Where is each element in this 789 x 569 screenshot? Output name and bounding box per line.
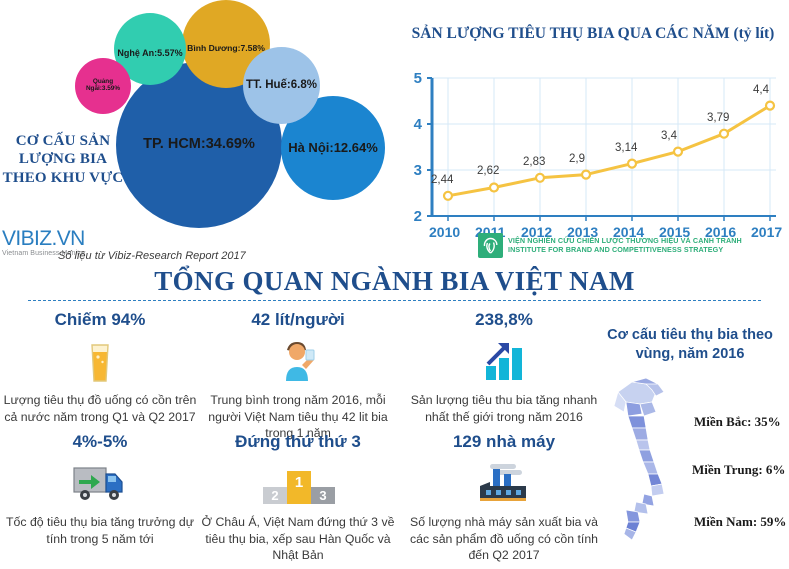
data-point-label: 4,4 bbox=[753, 84, 769, 96]
stat-headline: 238,8% bbox=[404, 310, 604, 330]
data-point-label: 3,4 bbox=[661, 130, 677, 142]
person-drinking-icon bbox=[198, 334, 398, 388]
stat-card-factories: 129 nhà máy Số lượng nhà máy sản xuất bi… bbox=[404, 432, 604, 564]
bubble-label-quang-ngai: Quảng Ngãi:3.59% bbox=[75, 79, 131, 92]
bubble-quang-ngai[interactable]: Quảng Ngãi:3.59% bbox=[75, 58, 131, 114]
podium-rank-3: 3 bbox=[319, 488, 326, 503]
y-tick-label: 5 bbox=[406, 71, 422, 86]
factory-icon bbox=[404, 456, 604, 510]
source-note: Số liệu từ Vibiz-Research Report 2017 bbox=[58, 250, 246, 262]
institute-text: VIỆN NGHIÊN CỨU CHIẾN LƯỢC THƯƠNG HIỆU V… bbox=[508, 237, 742, 254]
stat-headline: 129 nhà máy bbox=[404, 432, 604, 452]
line-chart-panel: SẢN LƯỢNG TIÊU THỤ BIA QUA CÁC NĂM (tỷ l… bbox=[392, 0, 789, 262]
vietnam-map-icon bbox=[606, 370, 686, 555]
y-tick-label: 3 bbox=[406, 163, 422, 178]
line-chart-plot: 2345 20102011201220132014201520162017( d… bbox=[406, 72, 782, 222]
growth-bars-icon bbox=[404, 334, 604, 388]
beer-glass-icon bbox=[0, 334, 200, 388]
stat-card-per-capita: 42 lít/người Trung bình trong năm 2016, … bbox=[198, 310, 398, 442]
podium-rank-1: 1 bbox=[295, 474, 303, 491]
bubble-label-tt-hue: TT. Huế:6.8% bbox=[246, 79, 317, 91]
region-map-title: Cơ cấu tiêu thụ bia theo vùng, năm 2016 bbox=[594, 326, 786, 364]
stat-headline: 4%-5% bbox=[0, 432, 200, 452]
data-point-label: 2,62 bbox=[477, 165, 499, 177]
data-point-label: 3,79 bbox=[707, 112, 729, 124]
title-divider bbox=[28, 300, 761, 301]
page-title: TỔNG QUAN NGÀNH BIA VIỆT NAM bbox=[0, 266, 789, 297]
stat-description: Sản lượng tiêu thu bia tăng nhanh nhất t… bbox=[404, 392, 604, 426]
bubble-tt-hue[interactable]: TT. Huế:6.8% bbox=[243, 47, 320, 124]
bubble-label-binh-duong: Bình Dương:7.58% bbox=[187, 44, 265, 53]
line-chart-title: SẢN LƯỢNG TIÊU THỤ BIA QUA CÁC NĂM (tỷ l… bbox=[410, 24, 776, 44]
stat-description: Lượng tiêu thụ đồ uống có cồn trên cả nư… bbox=[0, 392, 200, 426]
bubble-chart-title: CƠ CẤU SẢN LƯỢNG BIA THEO KHU VỰC bbox=[2, 132, 124, 187]
delivery-truck-icon bbox=[0, 456, 200, 510]
stat-card-beer-share: Chiếm 94% Lượng tiêu thụ đồ uống có cồn … bbox=[0, 310, 200, 425]
vibiz-logo-text: VIBIZ.VN bbox=[2, 228, 120, 249]
x-tick-label: 2017 bbox=[751, 224, 782, 240]
y-tick-label: 4 bbox=[406, 117, 422, 132]
data-point-label: 3,14 bbox=[615, 142, 637, 154]
region-label-south: Miền Nam: 59% bbox=[694, 514, 786, 530]
podium-icon: 2 1 3 bbox=[198, 456, 398, 510]
stat-headline: Đứng thứ thứ 3 bbox=[198, 432, 398, 452]
podium-rank-2: 2 bbox=[271, 488, 278, 503]
stat-card-growth-rate: 238,8% Sản lượng tiêu thu bia tăng nhanh… bbox=[404, 310, 604, 425]
line-chart-svg bbox=[406, 72, 782, 222]
stat-headline: 42 lít/người bbox=[198, 310, 398, 330]
stat-card-asia-rank: Đứng thứ thứ 3 2 1 3 Ở Châu Á, Việt Nam … bbox=[198, 432, 398, 564]
bubble-label-nghe-an: Nghệ An:5.57% bbox=[117, 49, 182, 58]
stat-description: Tốc độ tiêu thụ bia tăng trưởng dự tính … bbox=[0, 514, 200, 548]
institute-name-en: INSTITUTE FOR BRAND AND COMPETITIVENESS … bbox=[508, 246, 742, 254]
bubble-label-tp-hcm: TP. HCM:34.69% bbox=[143, 137, 255, 152]
institute-logo: VIỆN NGHIÊN CỨU CHIẾN LƯỢC THƯƠNG HIỆU V… bbox=[478, 233, 742, 258]
infographic-page: TP. HCM:34.69% Hà Nội:12.64% Bình Dương:… bbox=[0, 0, 789, 569]
bubble-label-ha-noi: Hà Nội:12.64% bbox=[288, 141, 378, 155]
region-map-panel: Cơ cấu tiêu thụ bia theo vùng, năm 2016 bbox=[590, 308, 789, 569]
region-label-central: Miền Trung: 6% bbox=[692, 462, 785, 478]
data-point-label: 2,83 bbox=[523, 156, 545, 168]
stat-headline: Chiếm 94% bbox=[0, 310, 200, 330]
bubble-chart-panel: TP. HCM:34.69% Hà Nội:12.64% Bình Dương:… bbox=[0, 0, 390, 262]
stat-description: Ở Châu Á, Việt Nam đứng thứ 3 về tiêu th… bbox=[198, 514, 398, 565]
fingerprint-icon bbox=[478, 233, 503, 258]
data-point-label: 2,9 bbox=[569, 153, 585, 165]
y-tick-label: 2 bbox=[406, 209, 422, 224]
stat-description: Số lượng nhà máy sản xuất bia và các sản… bbox=[404, 514, 604, 565]
x-tick-label: 2010 bbox=[429, 224, 460, 240]
region-label-north: Miền Bắc: 35% bbox=[694, 414, 781, 430]
data-point-label: 2,44 bbox=[431, 174, 453, 186]
stat-card-growth-forecast: 4%-5% Tốc độ tiêu thụ bia tăng trưởng dự… bbox=[0, 432, 200, 547]
